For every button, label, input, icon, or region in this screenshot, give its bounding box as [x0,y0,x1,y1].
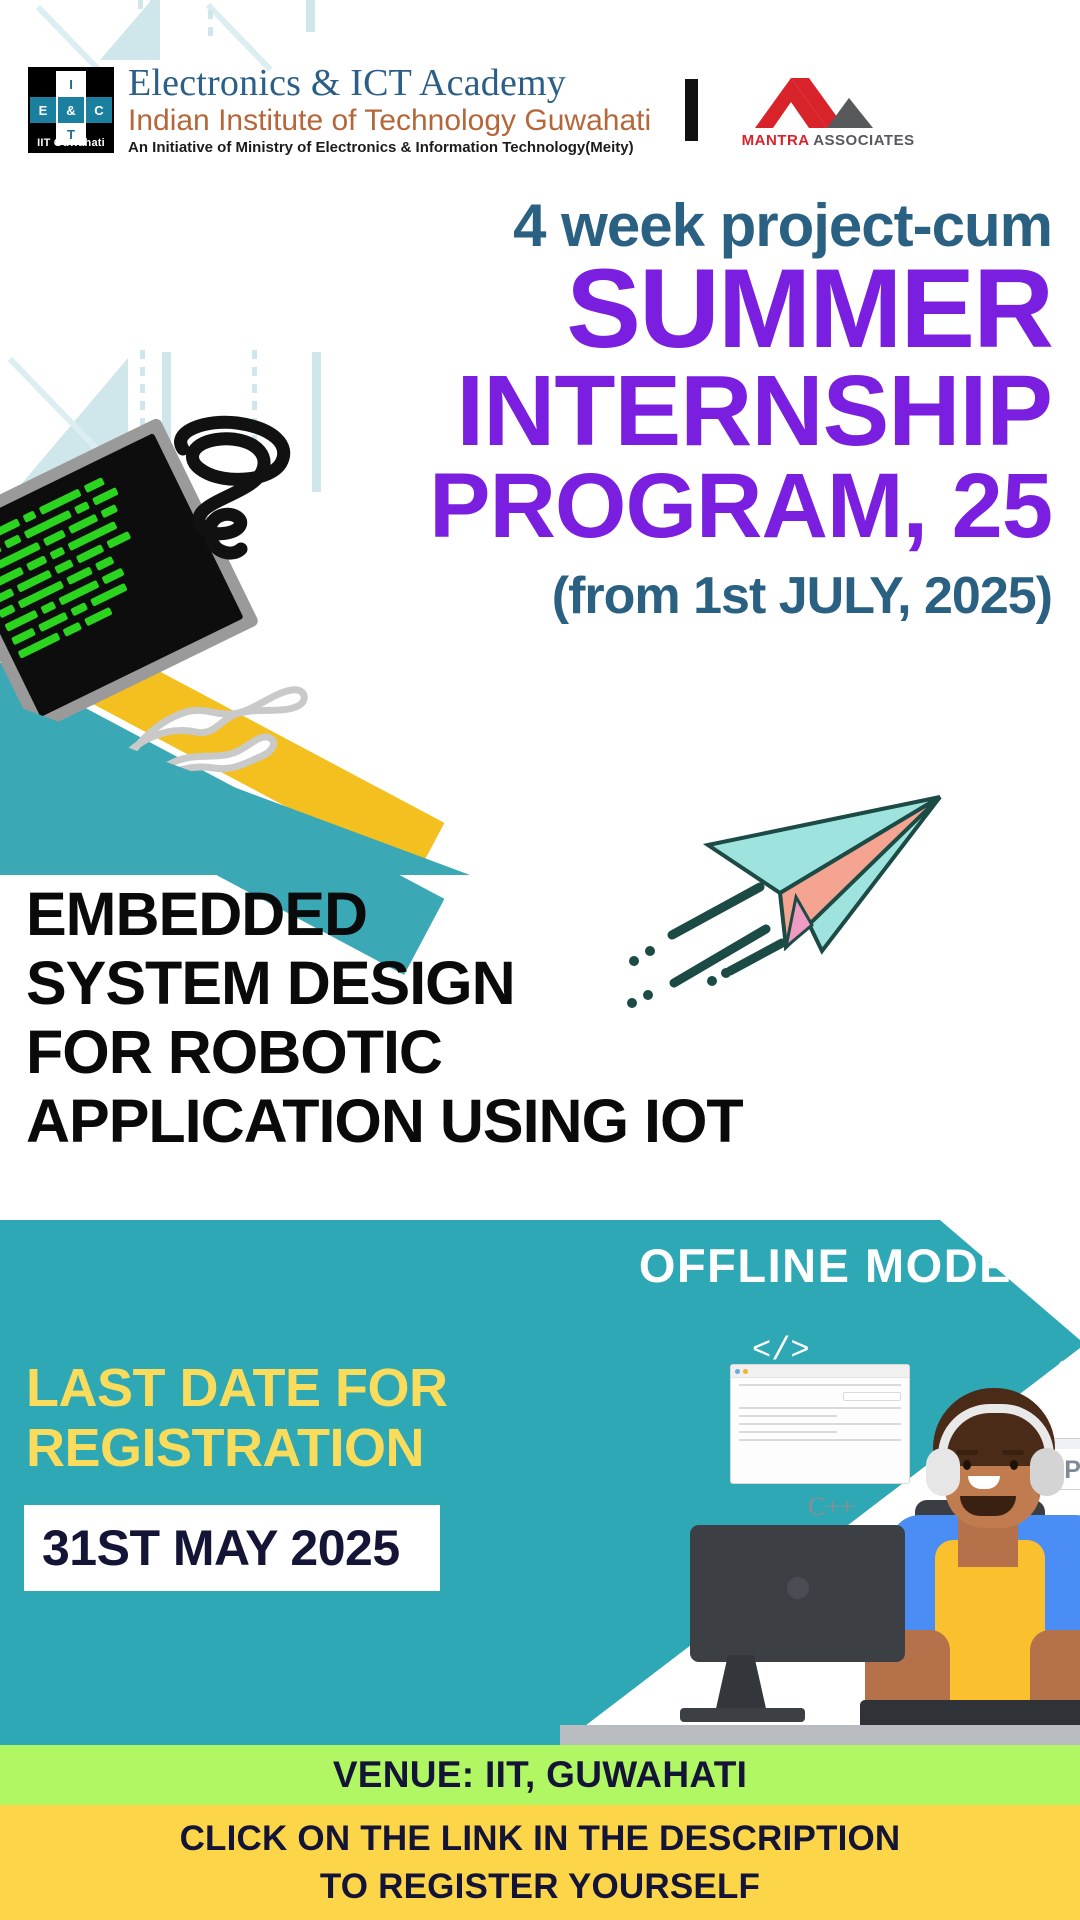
browser-content-line [739,1439,901,1441]
eict-logo-cell-c: C [86,97,112,123]
title-program: PROGRAM, 25 [312,460,1052,552]
mantra-wordmark: MANTRA ASSOCIATES [738,132,918,149]
poster-root: I E & C T IIT Guwahati Electronics & ICT… [0,0,1080,1920]
last-date-label: LAST DATE FOR REGISTRATION [26,1358,586,1479]
browser-content-line [739,1384,901,1386]
person-eye [963,1460,971,1470]
title-start-date: (from 1st JULY, 2025) [312,566,1052,626]
cta-line-1: CLICK ON THE LINK IN THE DESCRIPTION [180,1815,901,1862]
cta-line-2: TO REGISTER YOURSELF [320,1863,760,1910]
academy-institute: Indian Institute of Technology Guwahati [128,104,651,137]
browser-content-line [739,1407,901,1409]
browser-content-line [739,1415,837,1417]
mantra-word-primary: MANTRA [742,132,809,149]
person-eye [1010,1460,1018,1470]
venue-text: VENUE: IIT, GUWAHATI [333,1754,747,1796]
browser-content-line [739,1423,901,1425]
header: I E & C T IIT Guwahati Electronics & ICT… [0,55,1080,165]
cpp-label: C++ [808,1492,855,1522]
developer-illustration: </> C++ { } PHP [560,1300,1080,1745]
eict-logo-cell-amp: & [56,97,86,123]
academy-name-block: Electronics & ICT Academy Indian Institu… [128,64,651,157]
eict-academy-logo: I E & C T IIT Guwahati [28,67,114,153]
decorative-triangle [100,0,160,60]
browser-content-line [739,1431,837,1433]
scribble-doodle-icon [165,415,295,560]
decorative-vertical-bar [306,0,315,32]
title-internship: INTERNSHIP [312,362,1052,460]
browser-dot-icon [735,1369,740,1374]
course-title-line-3: FOR ROBOTIC [26,1018,926,1087]
browser-content-pill [843,1392,901,1401]
call-to-action-bar[interactable]: CLICK ON THE LINK IN THE DESCRIPTION TO … [0,1805,1080,1920]
academy-initiative: An Initiative of Ministry of Electronics… [128,139,651,156]
computer-monitor [690,1525,905,1662]
venue-bar: VENUE: IIT, GUWAHATI [0,1745,1080,1805]
last-date-label-line-2: REGISTRATION [26,1418,586,1478]
last-date-label-line-1: LAST DATE FOR [26,1358,586,1418]
headphone-earcup-icon [926,1448,960,1496]
academy-title: Electronics & ICT Academy [128,64,651,104]
mantra-associates-logo: MANTRA ASSOCIATES [738,72,918,149]
mantra-mark-icon [738,72,918,130]
browser-window-mockup [730,1364,910,1484]
header-divider [685,79,698,141]
decorative-dotted-line [208,10,213,44]
monitor-base [680,1708,805,1722]
monitor-badge-icon [787,1577,809,1599]
desk-surface [560,1725,1080,1745]
registration-deadline-box: 31ST MAY 2025 [24,1505,440,1591]
title-summer: SUMMER [312,256,1052,362]
decorative-vertical-bar [150,0,159,48]
eict-logo-cell-e: E [30,97,56,123]
program-title-block: 4 week project-cum SUMMER INTERNSHIP PRO… [312,196,1052,626]
eict-logo-cell-i: I [56,71,86,97]
browser-dot-icon [743,1369,748,1374]
browser-titlebar [731,1365,909,1378]
decorative-dotted-line [138,0,143,51]
registration-deadline-date: 31ST MAY 2025 [42,1519,400,1577]
eict-logo-institute-tag: IIT Guwahati [28,137,114,149]
offline-mode-badge: OFFLINE MODE [639,1238,1012,1293]
paper-plane-icon [600,775,1000,1015]
mantra-word-secondary: ASSOCIATES [813,132,914,149]
headphone-earcup-icon [1030,1448,1064,1496]
course-title-line-4: APPLICATION USING IOT [26,1087,926,1156]
